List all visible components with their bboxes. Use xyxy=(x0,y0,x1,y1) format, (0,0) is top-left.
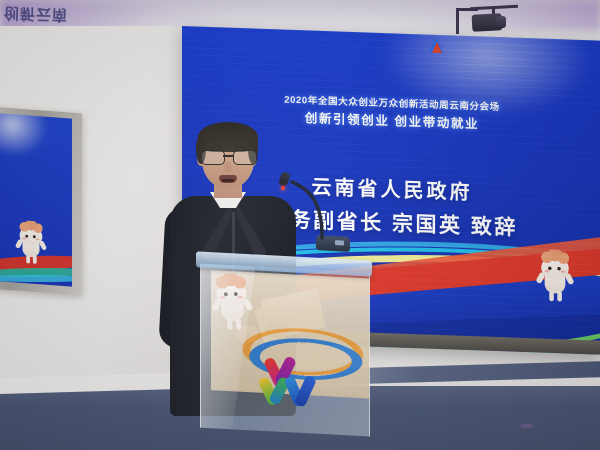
microphone-gooseneck xyxy=(286,176,332,240)
mouth-speaking xyxy=(219,175,237,183)
camera-lens-icon xyxy=(496,16,506,28)
panel-glare xyxy=(0,113,48,159)
camera-support-arm-horizontal xyxy=(456,8,478,11)
microphone-status-led xyxy=(335,240,344,245)
sheep-mascot-icon xyxy=(15,220,47,266)
panel-ribbon-cyan xyxy=(0,275,72,282)
gooseneck-path-icon xyxy=(286,176,332,240)
camera-support-arm-vertical xyxy=(456,8,459,34)
floor-light-spot xyxy=(520,424,534,428)
mirrored-banner-text: 创新云南 xyxy=(4,0,113,28)
podium-front-panel xyxy=(200,264,370,437)
nose xyxy=(224,162,231,172)
side-panel-screen xyxy=(0,113,72,287)
podium xyxy=(196,251,372,436)
screenshot-root: 创新云南 xyxy=(0,0,600,450)
shuangchuang-rainbow-logo-icon xyxy=(261,353,319,408)
microphone-active-indicator xyxy=(281,186,285,190)
framed-display-panel xyxy=(0,107,82,296)
